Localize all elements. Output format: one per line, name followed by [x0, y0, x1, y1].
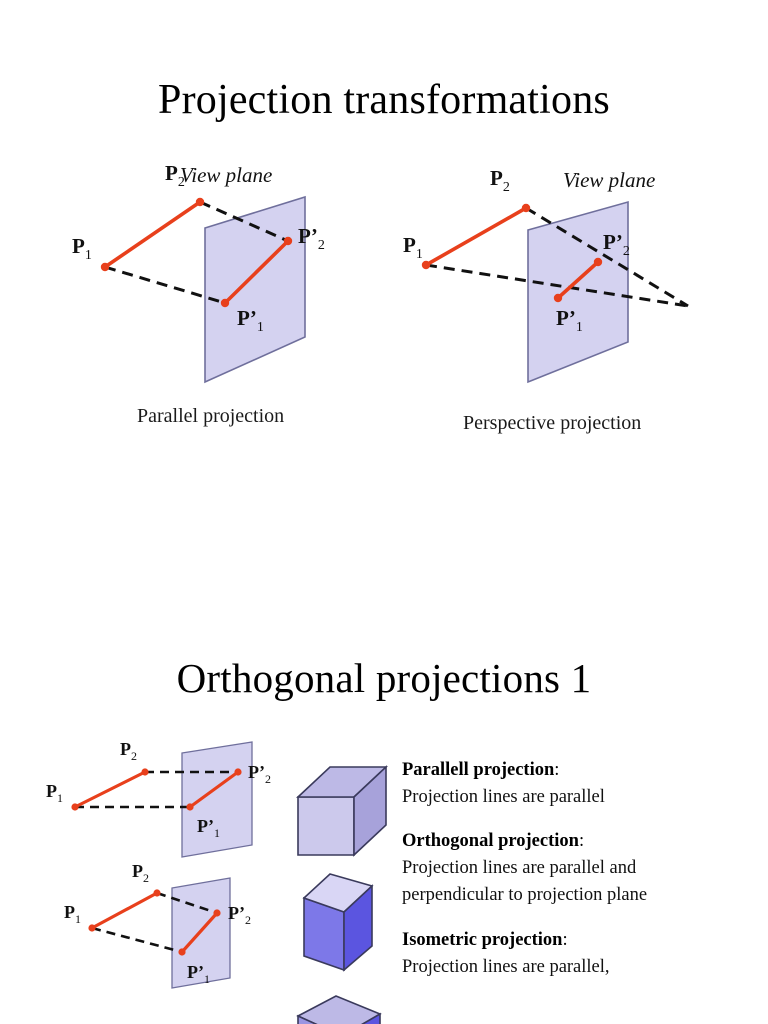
parallel-projection-diagram: View plane P1 P2 P’1 P’2 — [60, 155, 390, 400]
bullet-heading-colon: : — [579, 831, 584, 851]
view-plane-label: View plane — [563, 168, 655, 192]
bullet-heading-text: Parallell projection — [402, 760, 554, 780]
small-parallel-projection-diagram: P1 P2 P’1 P’2 — [42, 735, 292, 860]
label-p1: P1 — [64, 902, 81, 926]
object-segment — [75, 772, 145, 807]
bullet-heading: Orthogonal projection: — [402, 828, 758, 855]
caption-perspective-projection: Perspective projection — [463, 412, 641, 435]
point-p1-prime-marker — [221, 299, 229, 307]
caption-parallel-projection: Parallel projection — [137, 405, 284, 428]
cube-parallel — [292, 755, 392, 855]
object-segment — [105, 202, 200, 267]
bullet-heading-text: Isometric projection — [402, 930, 562, 950]
cube-front-face — [298, 797, 354, 855]
bullet-heading-text: Orthogonal projection — [402, 831, 579, 851]
object-segment — [426, 208, 526, 265]
slide-projection-transformations: Projection transformations View plane P1… — [0, 0, 768, 620]
bullet-line: perpendicular to projection plane — [402, 882, 758, 909]
slide-orthogonal-projections-1: Orthogonal projections 1 P1 P2 P’1 P’2 — [0, 620, 768, 1024]
point-p1-marker — [422, 261, 430, 269]
view-plane-surface — [528, 202, 628, 382]
small-oblique-projection-diagram: P1 P2 P’1 P’2 — [62, 860, 302, 990]
point-p2-prime-marker — [213, 909, 220, 916]
object-segment — [92, 893, 157, 928]
bullet-heading-colon: : — [562, 930, 567, 950]
point-p1-marker — [101, 263, 109, 271]
point-p2-marker — [141, 768, 148, 775]
list-item: Parallell projection: Projection lines a… — [402, 757, 758, 811]
bullet-heading-colon: : — [554, 760, 559, 780]
point-p2-marker — [153, 889, 160, 896]
point-p2-prime-marker — [284, 237, 292, 245]
label-p1: P1 — [72, 234, 92, 263]
bullet-line: Projection lines are parallel and — [402, 855, 758, 882]
point-p1-marker — [88, 924, 95, 931]
label-p1: P1 — [46, 781, 63, 805]
label-p2-prime: P’2 — [228, 903, 251, 927]
point-p2-prime-marker — [594, 258, 602, 266]
point-p2-marker — [522, 204, 530, 212]
label-p2: P2 — [490, 166, 510, 195]
point-p1-prime-marker — [186, 803, 193, 810]
point-p1-prime-marker — [178, 948, 185, 955]
point-p1-marker — [71, 803, 78, 810]
view-plane-label: View plane — [180, 163, 272, 187]
page-title: Orthogonal projections 1 — [0, 654, 768, 702]
projection-types-list: Parallell projection: Projection lines a… — [402, 757, 758, 998]
page-title: Projection transformations — [0, 76, 768, 124]
cube-top-face — [298, 996, 380, 1024]
cube-orthogonal — [296, 868, 388, 974]
projector-line-p1 — [92, 928, 182, 952]
bullet-line: Projection lines are parallel, — [402, 954, 758, 981]
list-item: Isometric projection: Projection lines a… — [402, 927, 758, 981]
label-p2: P2 — [132, 861, 149, 885]
point-p1-prime-marker — [554, 294, 562, 302]
bullet-heading: Parallell projection: — [402, 757, 758, 784]
label-p2: P2 — [120, 739, 137, 763]
point-p2-prime-marker — [234, 768, 241, 775]
perspective-projection-diagram: View plane P1 P2 P’1 P’2 — [398, 160, 718, 395]
bullet-line: Projection lines are parallel — [402, 784, 758, 811]
point-p2-marker — [196, 198, 204, 206]
cube-isometric — [290, 992, 390, 1024]
list-item: Orthogonal projection: Projection lines … — [402, 828, 758, 910]
bullet-heading: Isometric projection: — [402, 927, 758, 954]
label-p1: P1 — [403, 233, 423, 262]
